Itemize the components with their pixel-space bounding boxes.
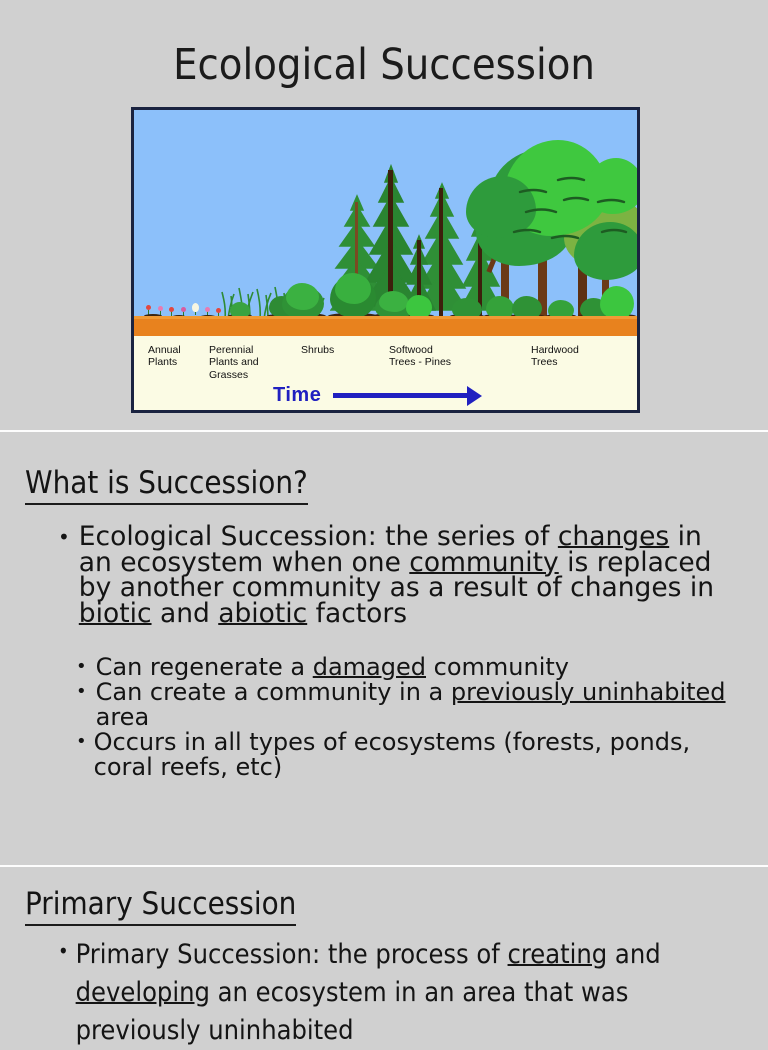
stage-label-hardwood-trees: Hardwood Trees [531, 344, 579, 369]
bullet-text: Can regenerate a damaged community [96, 655, 726, 680]
bullet-can-regenerate-damaged-community: • Can regenerate a damaged community [76, 655, 726, 680]
bullet-can-create-community-uninhabited: • Can create a community in a previously… [76, 680, 726, 730]
stage-label-annual-plants: Annual Plants [148, 344, 181, 369]
ecological-succession-diagram: Annual Plants Perennial Plants and Grass… [131, 107, 640, 413]
bullet-text: Can create a community in a previously u… [96, 680, 726, 730]
stage-label-shrubs: Shrubs [301, 344, 334, 356]
time-axis: Time [273, 384, 469, 407]
soil-band [134, 316, 637, 336]
diagram-sky [134, 110, 637, 329]
bullet-ecological-succession-definition: • Ecological Succession: the series of c… [58, 524, 718, 626]
slide-title: Ecological Succession [0, 0, 768, 430]
bullet-primary-succession-definition: • Primary Succession: the process of cre… [58, 936, 748, 1050]
document-page: Ecological Succession [0, 0, 768, 1024]
bullet-text: Occurs in all types of ecosystems (fores… [94, 730, 726, 780]
bullet-text: Ecological Succession: the series of cha… [79, 524, 718, 626]
bullet-marker: • [58, 524, 79, 547]
heading-primary-succession: Primary Succession [25, 888, 296, 926]
stage-label-perennial-plants-and-grasses: Perennial Plants and Grasses [209, 344, 259, 381]
bullet-marker: • [58, 936, 76, 961]
time-arrow-icon [333, 393, 469, 398]
stage-label-softwood-trees-pines: Softwood Trees - Pines [389, 344, 451, 369]
page-title: Ecological Succession [0, 44, 768, 87]
bullet-marker: • [76, 680, 96, 701]
soil-highlight [134, 316, 637, 319]
bullet-occurs-in-all-ecosystems: • Occurs in all types of ecosystems (for… [76, 730, 726, 780]
bullet-marker: • [76, 730, 94, 751]
diagram-caption-band: Annual Plants Perennial Plants and Grass… [134, 336, 637, 413]
time-axis-label: Time [273, 384, 321, 407]
bullet-marker: • [76, 655, 96, 676]
heading-what-is-succession: What is Succession? [25, 467, 308, 505]
bullet-text: Primary Succession: the process of creat… [76, 936, 748, 1050]
